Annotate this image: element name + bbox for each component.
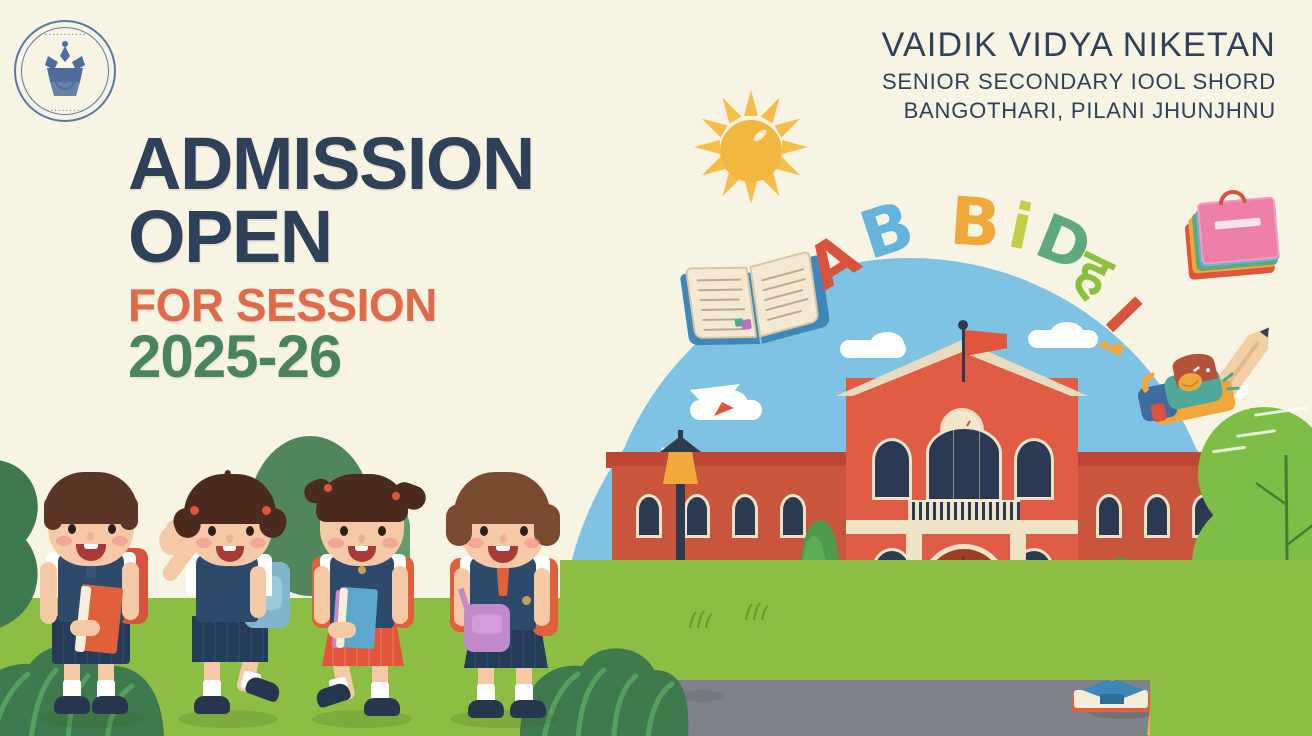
child-boy-with-book — [22, 470, 162, 736]
headline-line-1: ADMISSION — [128, 128, 534, 201]
lamp-tip — [678, 430, 683, 438]
school-level: SENIOR SECONDARY IOOL SHORD — [882, 69, 1276, 95]
child-girl-with-tie — [424, 470, 584, 736]
floating-letter-b1: B — [853, 192, 921, 270]
window — [1144, 494, 1170, 538]
child-girl-orange-skirt — [288, 470, 438, 736]
school-seal-logo: • • • • • • • • • • • • • • • • • • • • … — [14, 20, 116, 122]
cloud-2 — [870, 332, 904, 356]
school-name: VAIDIK VIDYA NIKETAN — [882, 26, 1276, 65]
flag-pole — [962, 326, 965, 382]
window-center-main — [926, 426, 1002, 502]
window — [732, 494, 758, 538]
paper-plane-icon — [688, 382, 754, 428]
page-title: ADMISSION OPEN — [128, 128, 534, 273]
sun-icon — [720, 120, 782, 182]
window — [636, 494, 662, 538]
grass-area-far-right — [1150, 600, 1312, 736]
svg-text:• • • • • • • • • •: • • • • • • • • • • — [47, 108, 84, 113]
balcony-railing — [908, 502, 1020, 520]
session-year: 2025-26 — [128, 322, 341, 391]
floating-letter-exclaim: I — [1095, 289, 1150, 343]
cloud-4 — [1050, 322, 1084, 346]
building-cornice — [846, 520, 1078, 534]
floating-letter-b2: B — [948, 188, 1003, 257]
window-center-upper-right — [1014, 438, 1054, 500]
school-identity: VAIDIK VIDYA NIKETAN SENIOR SECONDARY IO… — [882, 26, 1276, 124]
svg-text:• • • • • • • • • • •: • • • • • • • • • • • — [45, 32, 85, 37]
window — [1096, 494, 1122, 538]
flag-knob — [958, 320, 968, 330]
book-stack-icon — [1183, 196, 1285, 282]
floating-mark-icon — [1096, 336, 1126, 360]
school-address: BANGOTHARI, PILANI JHUNJHNU — [882, 98, 1276, 124]
headline-line-2: OPEN — [128, 201, 534, 274]
grass-tuft-icon — [686, 610, 714, 628]
window-center-upper — [872, 438, 912, 500]
window — [684, 494, 710, 538]
grass-tuft-icon — [742, 602, 770, 620]
admission-poster: A B B i D ह I — [0, 0, 1312, 736]
child-girl-waving — [152, 470, 302, 736]
